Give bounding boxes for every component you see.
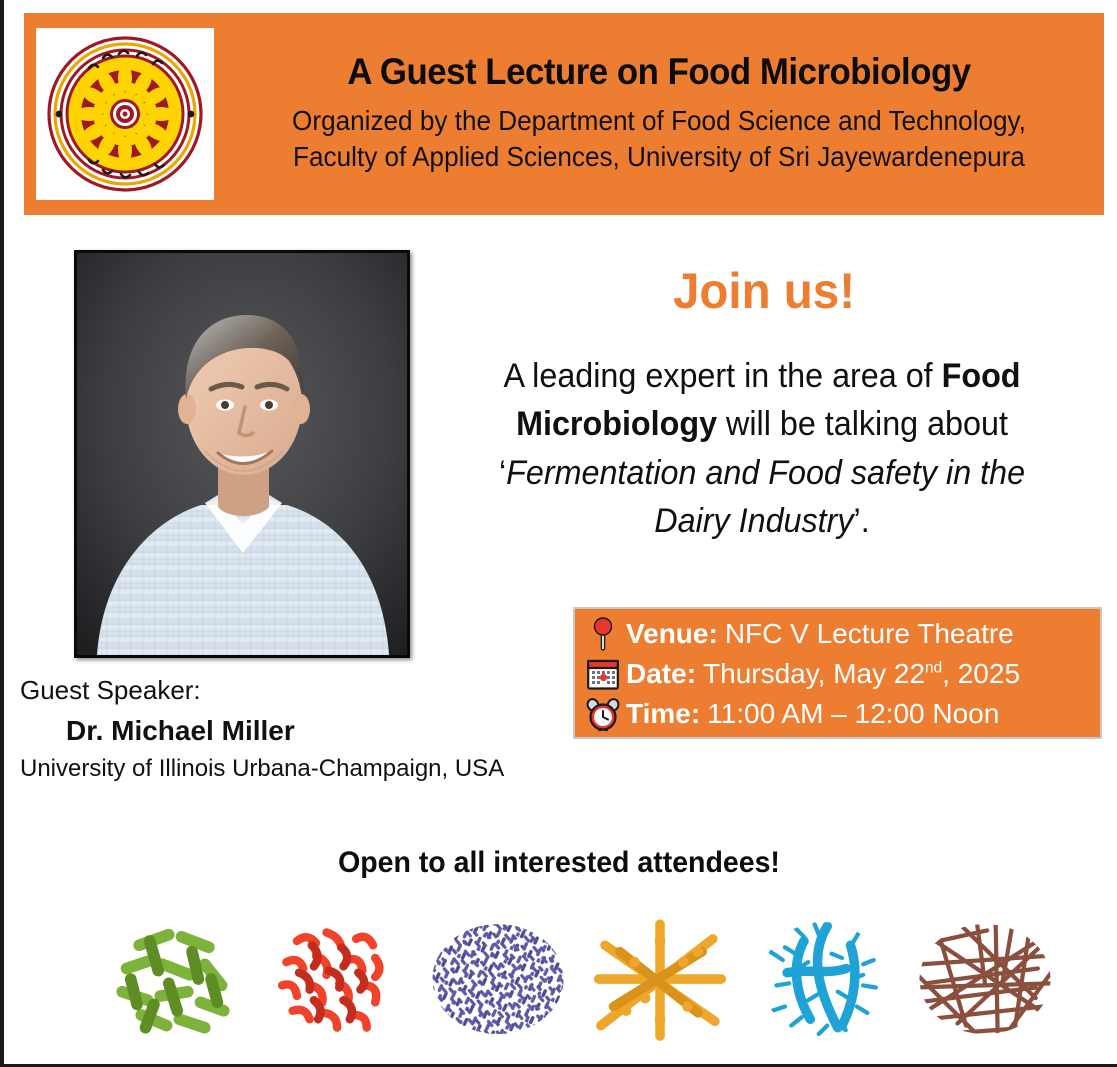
header-subtitle-line-1: Organized by the Department of Food Scie… [242, 103, 1076, 139]
map-pin-icon [585, 616, 621, 652]
event-details-box: Venue: NFC V Lecture Theatre [573, 607, 1102, 739]
speaker-info: Guest Speaker: Dr. Michael Miller Univer… [20, 672, 580, 786]
blurb-talk-title: Fermentation and Food safety in the Dair… [506, 454, 1025, 540]
lecture-blurb: A leading expert in the area of Food Mic… [468, 352, 1057, 545]
guest-speaker-label: Guest Speaker: [20, 672, 580, 710]
open-to-all-text: Open to all interested attendees! [32, 846, 1087, 880]
time-label: Time: [626, 698, 700, 730]
green-rod-bacteria-cluster-icon [99, 908, 247, 1048]
alarm-clock-icon [585, 696, 621, 732]
time-value: 11:00 AM – 12:00 Noon [707, 698, 999, 730]
date-value: Thursday, May 22nd, 2025 [703, 658, 1020, 690]
purple-small-rod-cluster-icon [424, 908, 572, 1048]
header-subtitle-line-2: Faculty of Applied Sciences, University … [242, 139, 1076, 175]
speaker-name: Dr. Michael Miller [20, 710, 580, 752]
speaker-affiliation: University of Illinois Urbana-Champaign,… [20, 752, 580, 787]
logo-box [36, 28, 214, 200]
detail-row-time: Time: 11:00 AM – 12:00 Noon [585, 694, 1092, 734]
blurb-text-1: A leading expert in the area of [503, 357, 941, 395]
header-banner: A Guest Lecture on Food Microbiology Org… [24, 13, 1104, 215]
speaker-portrait [74, 250, 410, 658]
venue-value: NFC V Lecture Theatre [725, 618, 1014, 650]
blue-filament-bacteria-cluster-icon [749, 908, 897, 1048]
microbe-illustration-strip [99, 905, 1059, 1050]
date-value-main: Thursday, May 22 [703, 658, 925, 689]
orange-chain-bacteria-cluster-icon [586, 908, 734, 1048]
calendar-icon [585, 656, 621, 692]
header-text-block: A Guest Lecture on Food Microbiology Org… [214, 52, 1104, 175]
poster-page: A Guest Lecture on Food Microbiology Org… [0, 0, 1117, 1067]
page-title: A Guest Lecture on Food Microbiology [246, 52, 1071, 93]
venue-label: Venue: [626, 618, 718, 650]
join-us-heading: Join us! [451, 262, 1078, 320]
date-ordinal-suffix: nd [925, 660, 942, 677]
red-curved-bacteria-cluster-icon [261, 908, 409, 1048]
speaker-photo-icon [77, 253, 407, 655]
date-label: Date: [626, 658, 696, 690]
header-subtitle: Organized by the Department of Food Scie… [242, 103, 1076, 176]
university-emblem-icon [45, 34, 205, 194]
detail-row-date: Date: Thursday, May 22nd, 2025 [585, 654, 1092, 694]
blurb-text-3: ’. [854, 502, 870, 540]
brown-thin-rod-cluster-icon [911, 908, 1059, 1048]
date-value-year: , 2025 [942, 658, 1020, 689]
detail-row-venue: Venue: NFC V Lecture Theatre [585, 614, 1092, 654]
